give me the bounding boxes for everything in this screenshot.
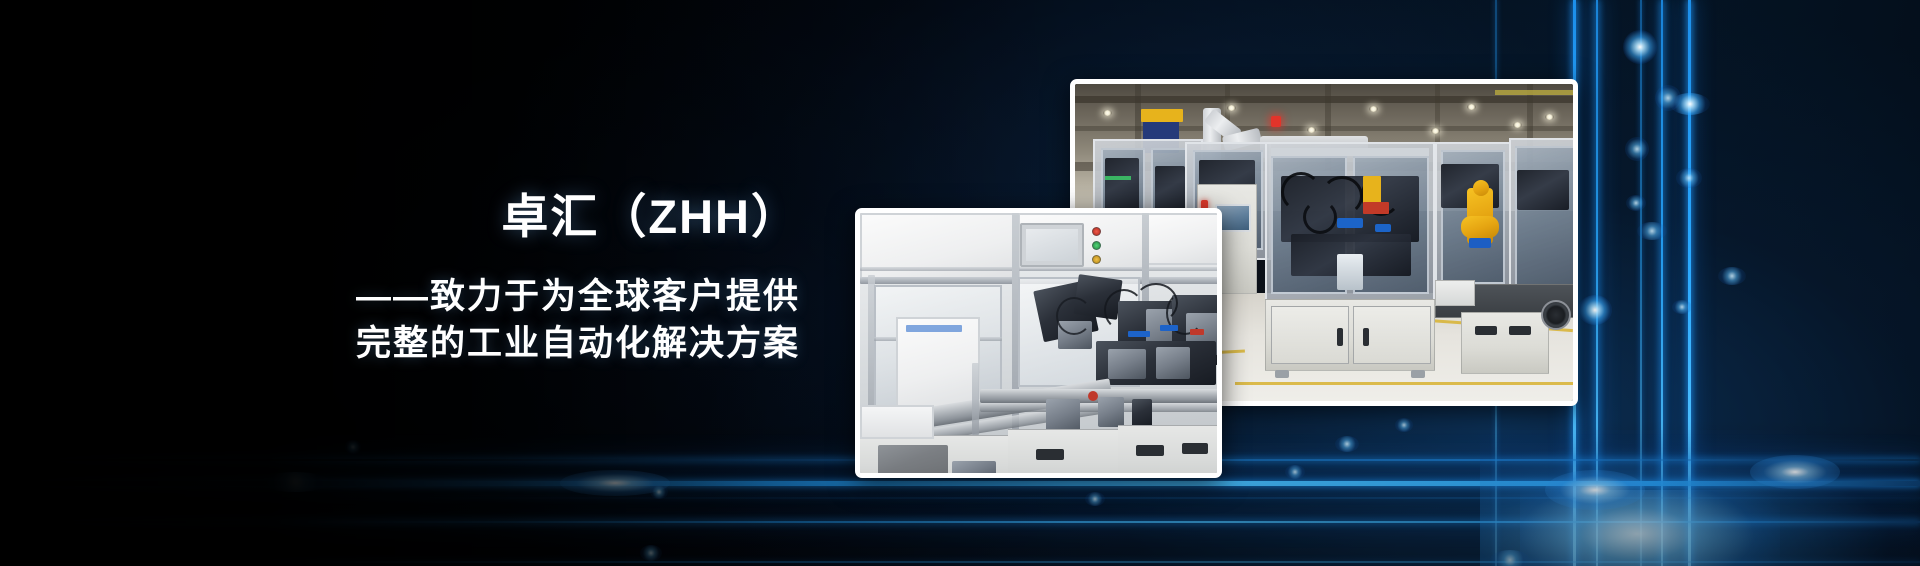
banner-headline: 卓汇（ZHH） xyxy=(180,190,800,244)
floor-marking xyxy=(1235,382,1573,385)
ceiling-lamp xyxy=(1431,128,1440,134)
robot-arm xyxy=(1473,180,1489,196)
banner-subtitle-line-2: 完整的工业自动化解决方案 xyxy=(180,321,800,368)
station-label xyxy=(1141,109,1183,122)
hmi-display xyxy=(1026,229,1078,261)
hero-banner: 卓汇（ZHH） ——致力于为全球客户提供 完整的工业自动化解决方案 xyxy=(0,0,1920,566)
ceiling-lamp xyxy=(1227,105,1236,111)
emergency-stop-button[interactable] xyxy=(1092,227,1101,236)
station-label xyxy=(1363,176,1381,204)
alarm-light xyxy=(1271,116,1281,127)
ceiling-lamp xyxy=(1307,127,1316,133)
assembly-machine-image xyxy=(860,213,1217,473)
banner-subtitle: ——致力于为全球客户提供 完整的工业自动化解决方案 xyxy=(180,274,800,367)
fan-unit xyxy=(1541,300,1571,330)
cabinet-vent xyxy=(1136,445,1164,456)
pneumatic-cable xyxy=(1056,297,1092,335)
ceiling-lamp xyxy=(1467,104,1476,110)
cabinet-handle xyxy=(1363,328,1369,346)
banner-subtitle-line-1: ——致力于为全球客户提供 xyxy=(180,274,800,321)
top-panel xyxy=(1144,213,1217,265)
indicator-green[interactable] xyxy=(1092,241,1101,250)
cable-hose xyxy=(1303,200,1337,234)
ceiling-lamp xyxy=(1513,122,1522,128)
cabinet-vent xyxy=(1182,443,1208,454)
ceiling-lamp xyxy=(1545,114,1554,120)
ceiling-lamp xyxy=(1369,106,1378,112)
side-cabinet xyxy=(1461,312,1549,374)
photo-assembly-machine[interactable] xyxy=(855,208,1222,478)
base-cabinet xyxy=(1008,429,1120,473)
ceiling-lamp xyxy=(1103,110,1112,116)
indicator-amber[interactable] xyxy=(1092,255,1101,264)
banner-text-block: 卓汇（ZHH） ——致力于为全球客户提供 完整的工业自动化解决方案 xyxy=(180,190,800,367)
robot-arm xyxy=(1461,216,1499,238)
cabinet-handle xyxy=(1337,328,1343,346)
cabinet-vent xyxy=(1036,449,1064,460)
